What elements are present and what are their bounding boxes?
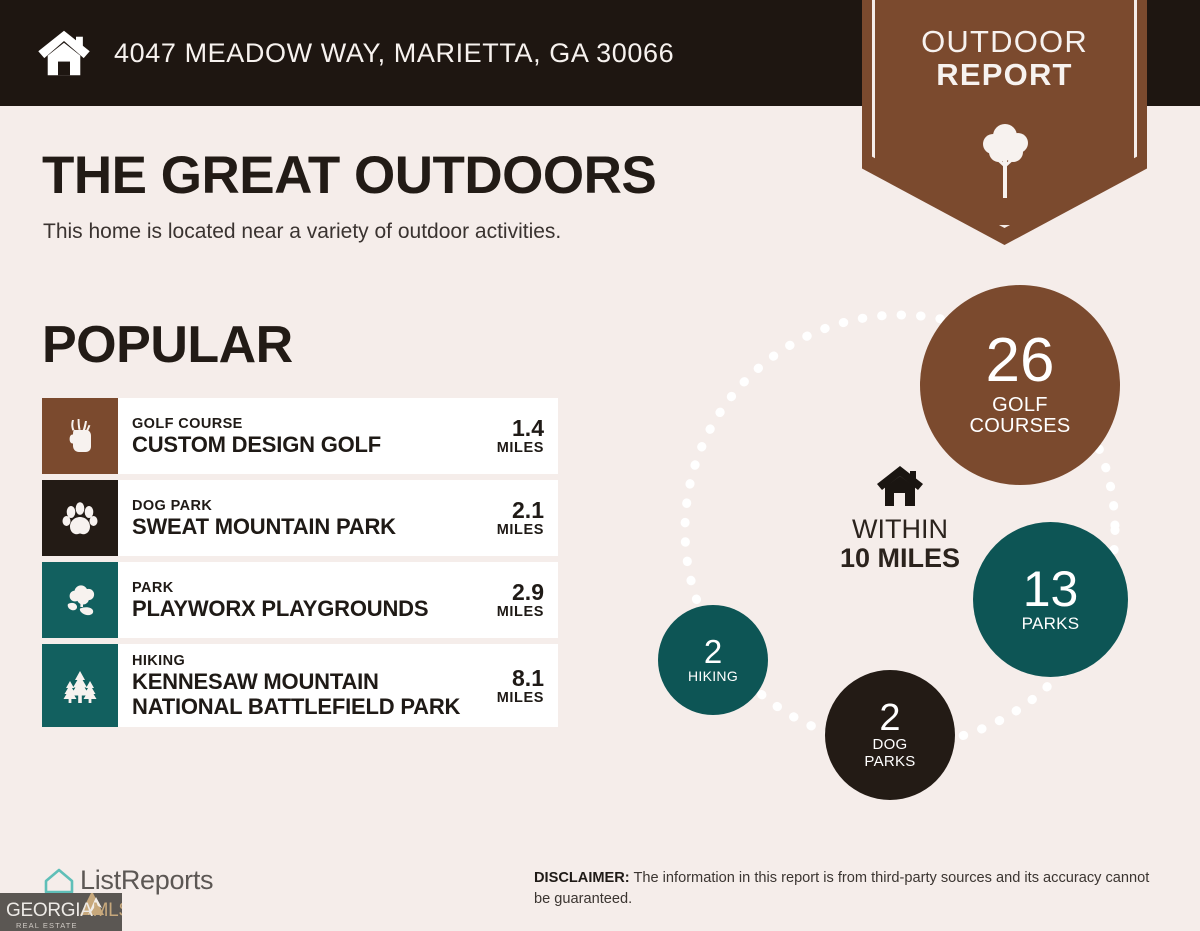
georgia-mls-wordmark: GEORGIAMLS [6,900,122,922]
golf-bag-icon [60,416,100,456]
stat-value: 2 [879,700,900,736]
list-item-category: DOG PARK [132,497,396,515]
georgia-mls-watermark: GEORGIAMLS REAL ESTATE SERVICES [0,893,122,931]
list-item-body: GOLF COURSE CUSTOM DESIGN GOLF 1.4 MILES [118,398,558,474]
list-item-category: GOLF COURSE [132,415,381,433]
stat-label: DOG PARKS [864,737,915,769]
list-item-name: KENNESAW MOUNTAIN NATIONAL BATTLEFIELD P… [132,670,485,719]
disclaimer-label: DISCLAIMER: [534,870,630,886]
list-item-icon-tile [42,562,118,638]
stat-label-line-2: COURSES [969,416,1070,438]
list-item-text: DOG PARK SWEAT MOUNTAIN PARK [132,497,396,540]
list-item-icon-tile [42,644,118,727]
list-item-name: SWEAT MOUNTAIN PARK [132,515,396,540]
stat-value: 26 [986,332,1055,391]
badge-line-2: REPORT [862,59,1147,92]
listreports-wordmark: ListReports [80,865,213,896]
page-subtitle: This home is located near a variety of o… [43,220,561,244]
list-item-distance-unit: MILES [497,604,544,620]
stat-bubble-dog-parks[interactable]: 2 DOG PARKS [825,670,955,800]
list-item[interactable]: DOG PARK SWEAT MOUNTAIN PARK 2.1 MILES [42,480,558,556]
stat-label-line-2: PARKS [864,754,915,770]
list-item-icon-tile [42,398,118,474]
list-item-name: PLAYWORX PLAYGROUNDS [132,597,428,622]
pine-trees-icon [60,666,100,706]
list-item-distance-value: 2.1 [497,498,544,522]
list-item-category: PARK [132,579,428,597]
stat-value: 2 [704,636,722,667]
diagram-center-line-2: 10 MILES [820,543,980,574]
list-item[interactable]: HIKING KENNESAW MOUNTAIN NATIONAL BATTLE… [42,644,558,727]
list-item-distance-value: 8.1 [497,666,544,690]
badge-line-1: OUTDOOR [862,26,1147,59]
list-item-distance-unit: MILES [497,522,544,538]
tree-icon [975,118,1035,200]
watermark-subtitle: REAL ESTATE SERVICES [16,921,122,931]
diagram-center-line-1: WITHIN [820,515,980,543]
home-icon [36,29,92,77]
list-item[interactable]: PARK PLAYWORX PLAYGROUNDS 2.9 MILES [42,562,558,638]
stat-bubble-hiking[interactable]: 2 HIKING [658,605,768,715]
list-item-distance: 2.1 MILES [485,498,544,538]
listreports-logo[interactable]: ListReports [44,865,213,896]
list-item-distance: 2.9 MILES [485,580,544,620]
stat-label: PARKS [1022,615,1080,633]
watermark-part-1: GEORGIA [6,900,93,921]
list-item-body: DOG PARK SWEAT MOUNTAIN PARK 2.1 MILES [118,480,558,556]
list-item-icon-tile [42,480,118,556]
stat-label: HIKING [688,669,738,684]
popular-list: GOLF COURSE CUSTOM DESIGN GOLF 1.4 MILES [42,398,558,727]
list-item-name: CUSTOM DESIGN GOLF [132,433,381,458]
watermark-part-2: MLS [93,900,122,921]
list-item-text: GOLF COURSE CUSTOM DESIGN GOLF [132,415,381,458]
list-item-distance-value: 2.9 [497,580,544,604]
home-icon [876,465,924,507]
list-item-distance-unit: MILES [497,690,544,706]
list-item[interactable]: GOLF COURSE CUSTOM DESIGN GOLF 1.4 MILES [42,398,558,474]
diagram-center: WITHIN 10 MILES [820,465,980,574]
header-content: 4047 MEADOW WAY, MARIETTA, GA 30066 [36,0,674,106]
stat-bubble-parks[interactable]: 13 PARKS [973,522,1128,677]
list-item-body: PARK PLAYWORX PLAYGROUNDS 2.9 MILES [118,562,558,638]
within-10-miles-diagram: 26 GOLF COURSES 13 PARKS 2 DOG PARKS 2 H… [620,280,1180,820]
stat-label-line-1: GOLF [969,395,1070,417]
list-item-distance-value: 1.4 [497,416,544,440]
page-title: THE GREAT OUTDOORS [42,145,656,206]
badge-text: OUTDOOR REPORT [862,26,1147,91]
list-item-text: PARK PLAYWORX PLAYGROUNDS [132,579,428,622]
property-address: 4047 MEADOW WAY, MARIETTA, GA 30066 [114,38,674,69]
list-item-distance: 8.1 MILES [485,666,544,706]
stat-label-line-1: DOG [864,737,915,753]
list-item-body: HIKING KENNESAW MOUNTAIN NATIONAL BATTLE… [118,644,558,727]
list-item-text: HIKING KENNESAW MOUNTAIN NATIONAL BATTLE… [132,652,485,719]
park-tree-icon [60,580,100,620]
stat-bubble-golf-courses[interactable]: 26 GOLF COURSES [920,285,1120,485]
list-item-distance: 1.4 MILES [485,416,544,456]
stat-label: GOLF COURSES [969,395,1070,438]
listreports-house-icon [44,867,74,895]
outdoor-report-page: 4047 MEADOW WAY, MARIETTA, GA 30066 OUTD… [0,0,1200,931]
disclaimer: DISCLAIMER: The information in this repo… [534,868,1159,909]
popular-heading: POPULAR [42,315,293,375]
paw-print-icon [60,498,100,538]
stat-value: 13 [1023,566,1079,614]
list-item-distance-unit: MILES [497,440,544,456]
list-item-category: HIKING [132,652,485,670]
